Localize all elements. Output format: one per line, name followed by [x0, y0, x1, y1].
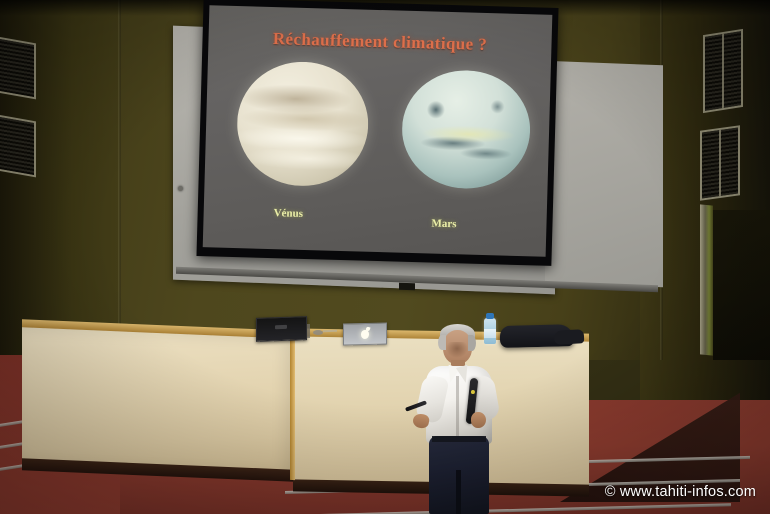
bottle-cap: [486, 313, 494, 319]
silver-macbook-laptop: [343, 323, 387, 346]
vent-mullion: [722, 34, 724, 108]
vent-slats: [0, 39, 34, 97]
wall-vent-icon-right-upper: [703, 29, 743, 113]
vent-mullion: [719, 130, 721, 196]
mars-planet-image: [400, 69, 531, 191]
stair-nosing: [291, 503, 731, 514]
wall-corner-left: [118, 0, 121, 360]
presenter-hair-left: [438, 335, 446, 350]
dark-bag-secondary: [554, 329, 585, 345]
venus-label: Vénus: [274, 207, 304, 220]
mars-label: Mars: [431, 218, 456, 231]
wall-vent-icon-left-upper: [0, 37, 36, 100]
doorway-dark: [713, 210, 770, 360]
presenter-face: [446, 342, 468, 358]
vent-slats: [0, 117, 34, 175]
desk-panel-left: [22, 327, 294, 476]
presenter-leg-gap: [456, 470, 461, 514]
apple-logo-icon: [361, 330, 369, 339]
door-frame: [700, 204, 713, 355]
laptop-logo-icon: [275, 325, 287, 329]
photo-scene: Réchauffement climatique ? Vénus Mars: [0, 0, 770, 514]
whiteboard-clip: [399, 283, 415, 291]
wall-vent-icon-left-lower: [0, 115, 36, 178]
whiteboard-magnet: [178, 186, 183, 191]
wall-vent-icon-right-lower: [700, 125, 740, 201]
planet-row: [204, 53, 551, 213]
shirt-placket: [456, 376, 459, 442]
whiteboard-right-panel: [545, 61, 663, 288]
microphone-indicator: [471, 390, 475, 394]
desk-seam: [290, 330, 295, 480]
black-laptop: [256, 316, 307, 342]
presenter-belt: [432, 436, 486, 442]
watermark: © www.tahiti-infos.com: [605, 484, 756, 500]
presenter-hand-right: [471, 412, 486, 428]
stylus: [307, 324, 310, 338]
venus-planet-image: [235, 60, 369, 188]
projection-screen: Réchauffement climatique ? Vénus Mars: [196, 0, 558, 266]
computer-mouse: [313, 330, 323, 335]
slide-title: Réchauffement climatique ?: [208, 27, 551, 57]
presentation-slide: Réchauffement climatique ? Vénus Mars: [203, 5, 553, 256]
presenter: [405, 320, 510, 514]
presenter-hair-right: [468, 335, 476, 351]
